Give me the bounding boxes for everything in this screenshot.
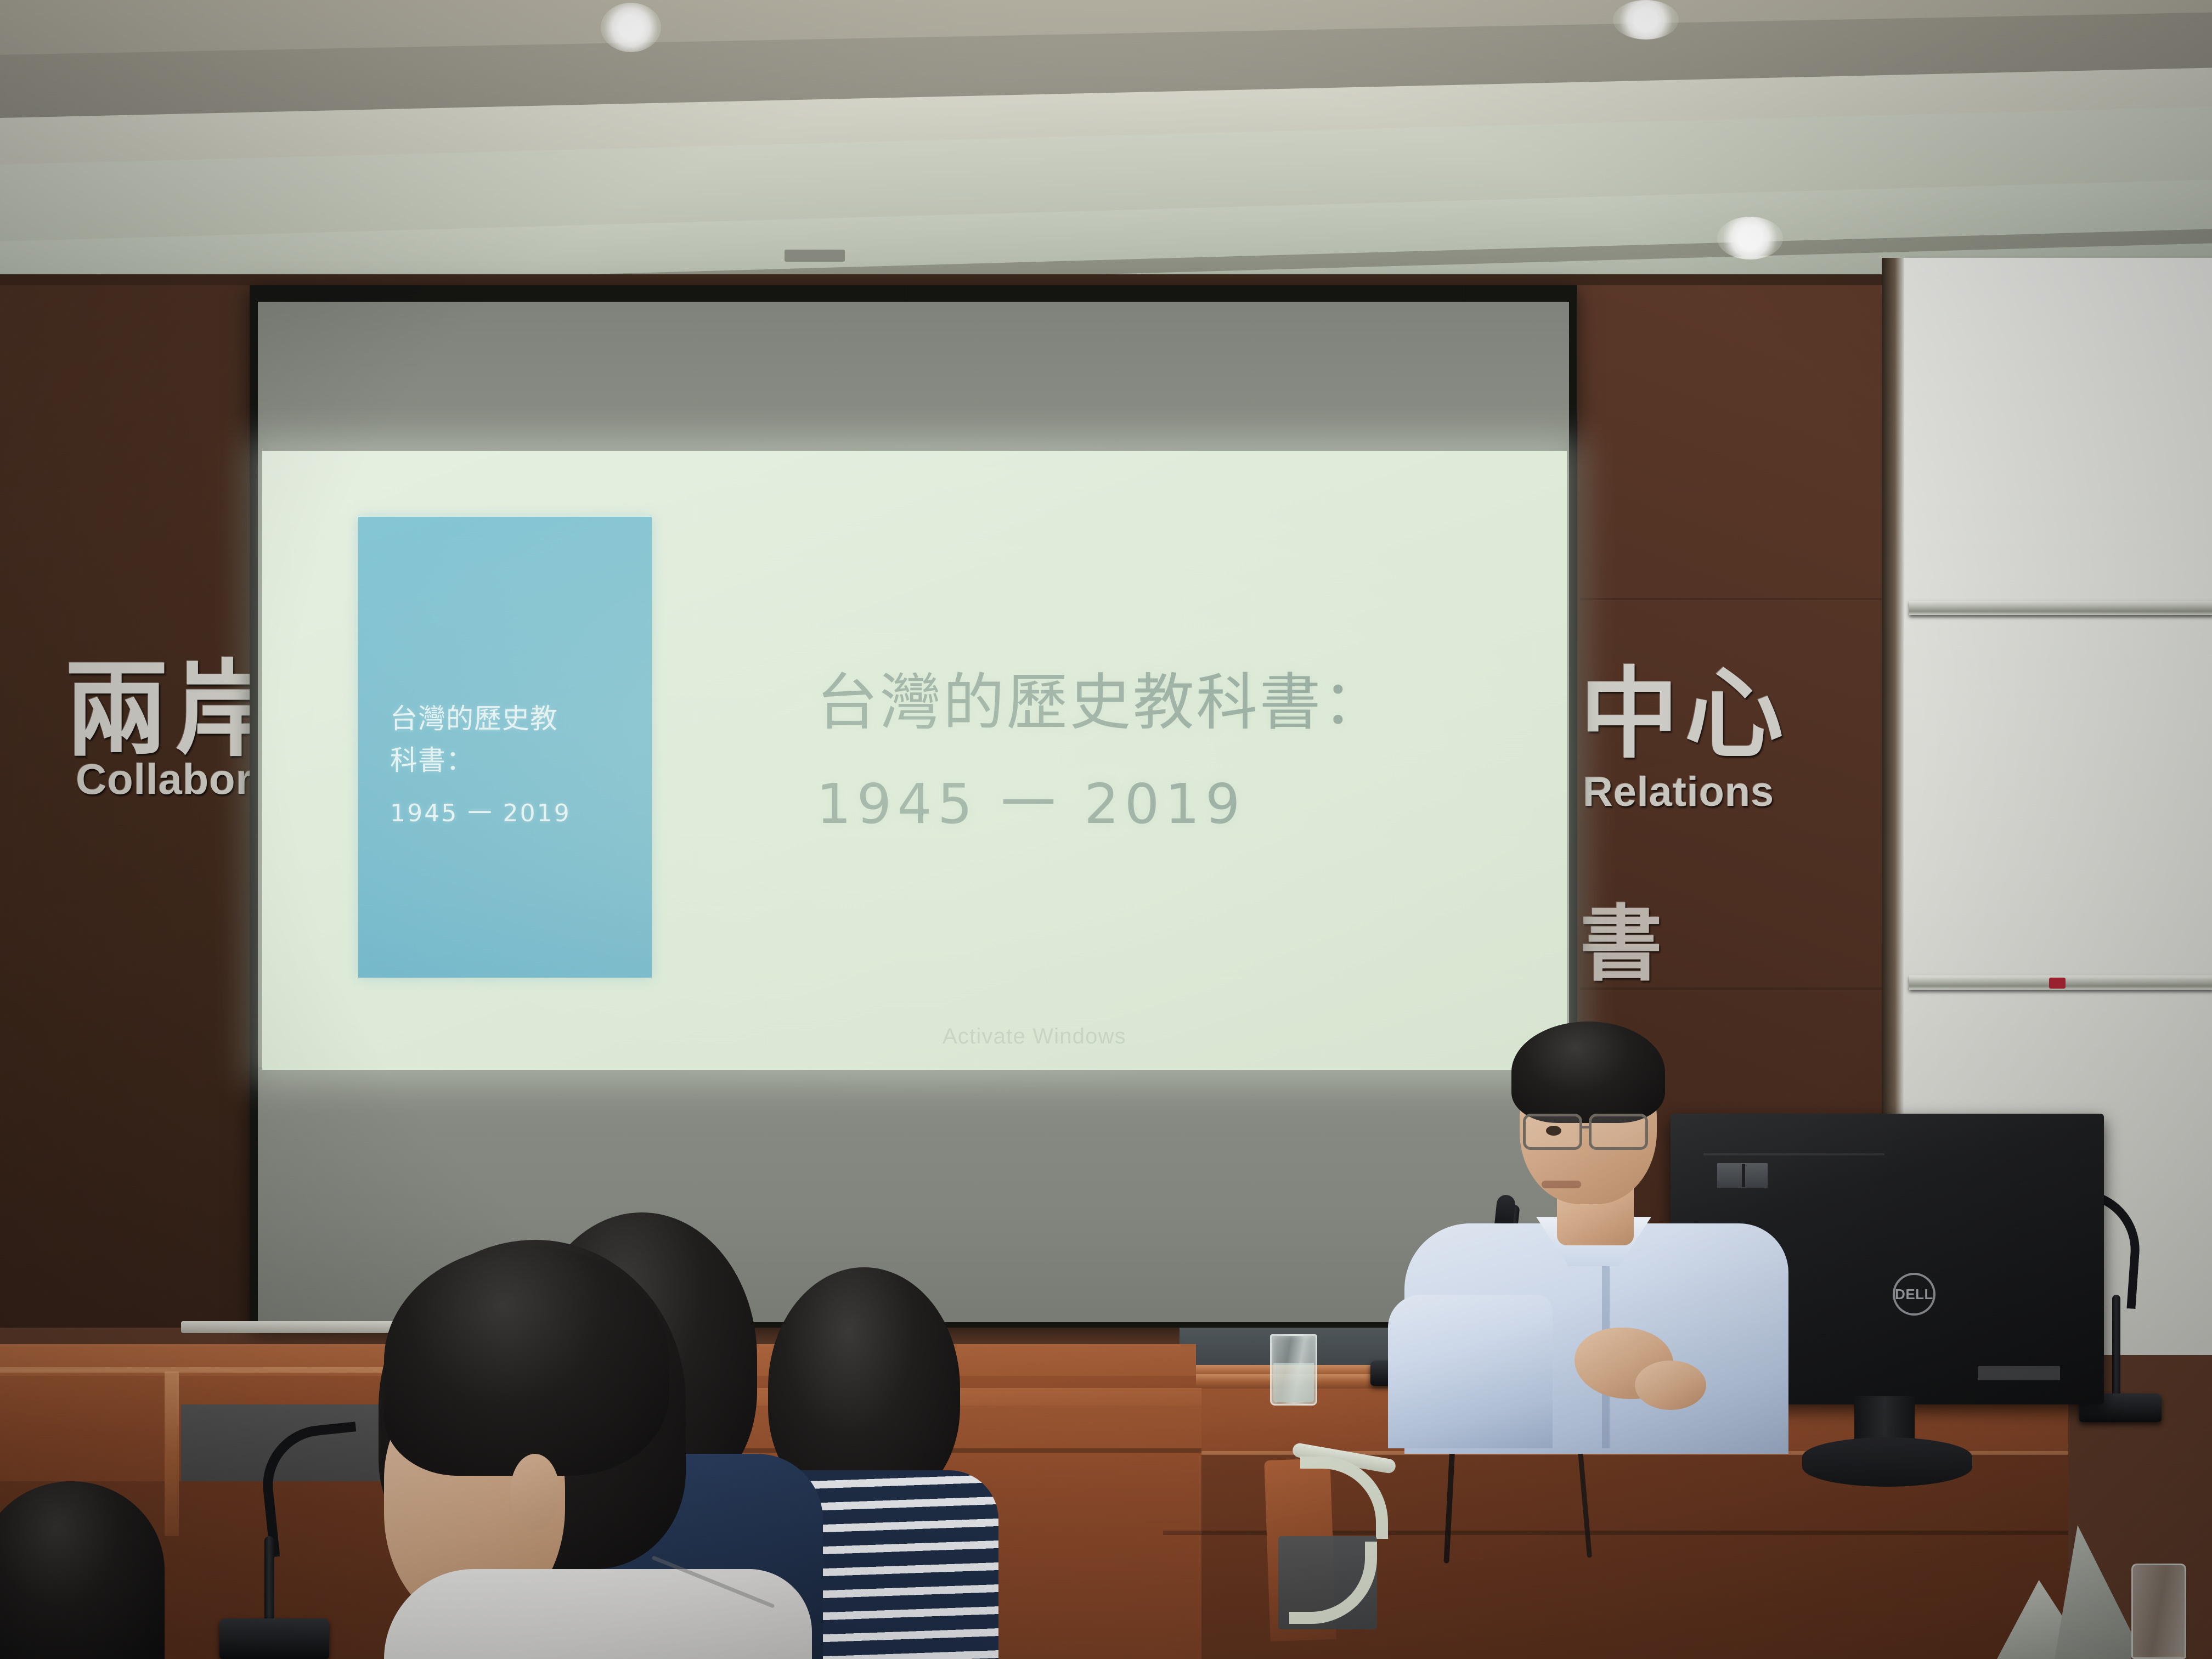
audience-desk-divider xyxy=(165,1372,179,1536)
water-glass[interactable] xyxy=(1270,1334,1317,1406)
water-bottle[interactable] xyxy=(2131,1564,2186,1659)
wall-sign-left-english: Collabora xyxy=(76,754,277,804)
ceiling-downlight-icon xyxy=(601,3,661,52)
windows-activation-watermark: Activate Windows xyxy=(943,1024,1126,1049)
screen-top-band xyxy=(258,302,1569,453)
speaker-hand xyxy=(1635,1361,1706,1410)
projector-screen: 台灣的歷史教 科書： 1945 一 2019 台灣的歷史教科書： 1945 一 … xyxy=(250,285,1577,1328)
glass-water-level xyxy=(1273,1363,1314,1402)
rail-marker xyxy=(2049,978,2066,989)
slide-title-line1: 台灣的歷史教科書： xyxy=(816,659,1541,747)
projected-slide: 台灣的歷史教 科書： 1945 一 2019 台灣的歷史教科書： 1945 一 … xyxy=(262,451,1567,1070)
wall-seam xyxy=(1580,598,1887,600)
ceiling-downlight-icon xyxy=(1717,217,1783,259)
wall-sign-right-chinese: 中心 xyxy=(1580,634,1790,777)
ceiling-downlight-icon xyxy=(1613,0,1679,39)
audience-hair-front xyxy=(384,1245,669,1476)
slide-accent-block: 台灣的歷史教 科書： 1945 一 2019 xyxy=(358,517,652,978)
wall-sign-right-english: Relations xyxy=(1583,768,1774,816)
wall-panel-left xyxy=(0,285,285,1328)
audience-white-shirt xyxy=(384,1569,812,1659)
dell-logo-icon: DELL xyxy=(1893,1273,1936,1316)
microphone-base[interactable] xyxy=(219,1618,329,1659)
microphone-stem xyxy=(264,1536,274,1629)
speaker-eyeglasses-icon xyxy=(1589,1114,1648,1150)
wall-sign-right-partial: 書 xyxy=(1580,878,1667,997)
wall-rail-upper xyxy=(1909,601,2212,615)
screen-surface: 台灣的歷史教 科書： 1945 一 2019 台灣的歷史教科書： 1945 一 … xyxy=(258,302,1569,1322)
speaker-sleeve xyxy=(1388,1295,1553,1448)
microphone-stem xyxy=(2112,1295,2120,1404)
slide-sidebar-line3: 1945 一 2019 xyxy=(390,795,648,832)
slide-sidebar-line2: 科書： xyxy=(390,740,648,781)
monitor-label xyxy=(1978,1366,2060,1380)
monitor-stand-base xyxy=(1802,1437,1972,1487)
speaker-hair xyxy=(1511,1022,1665,1123)
slide-sidebar-line1: 台灣的歷史教 xyxy=(390,698,648,740)
eyeglasses-bridge xyxy=(1582,1126,1590,1128)
monitor-seam xyxy=(1703,1153,1884,1155)
lecture-hall-photo: 兩岸 Collabora 中心 Relations 書 台灣的歷史教 科書： 1… xyxy=(0,0,2212,1659)
slide-sidebar-text: 台灣的歷史教 科書： 1945 一 2019 xyxy=(390,698,648,832)
slide-title-line2: 1945 一 2019 xyxy=(816,765,1541,843)
audience-ear xyxy=(510,1454,560,1531)
monitor-port-divider xyxy=(1742,1164,1745,1187)
speaker-mouth xyxy=(1542,1181,1581,1188)
slide-main-title: 台灣的歷史教科書： 1945 一 2019 xyxy=(816,659,1541,843)
ceiling-vent-icon xyxy=(785,250,845,262)
speaker-eye xyxy=(1546,1126,1561,1136)
